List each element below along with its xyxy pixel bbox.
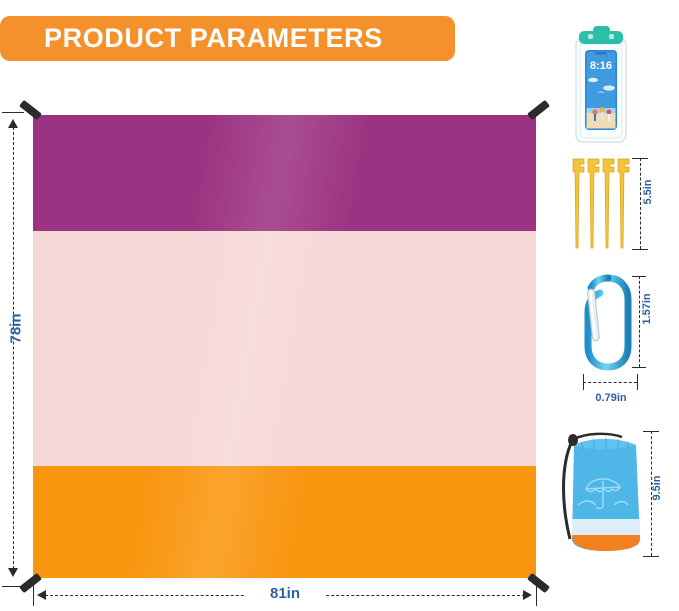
carabiner-height-line xyxy=(639,276,640,367)
waterproof-phone-pouch: 8:16 xyxy=(573,22,629,144)
stake-dim-cap-bottom xyxy=(632,249,648,250)
height-dim-cap-top xyxy=(2,112,24,113)
carry-bag xyxy=(556,427,654,562)
carabiner-width-label: 0.79in xyxy=(581,392,641,404)
carabiner-width-line xyxy=(583,382,637,383)
height-dim-cap-bottom xyxy=(2,586,24,587)
corner-loop-top-right xyxy=(527,100,550,120)
blanket-height-label: 78in xyxy=(8,299,25,359)
orange-stripe xyxy=(33,466,536,578)
width-dim-cap-right xyxy=(536,584,537,606)
blanket-width-label: 81in xyxy=(245,585,325,602)
corner-loop-top-left xyxy=(19,100,42,120)
height-arrow-up-icon xyxy=(8,119,18,128)
width-arrow-right-icon xyxy=(523,590,532,600)
stake-length-label: 5.5in xyxy=(642,175,654,209)
stake-dimension-line xyxy=(640,158,641,249)
tent-stakes xyxy=(570,155,632,250)
bag-height-label: 9.5in xyxy=(651,471,663,505)
page-title: PRODUCT PARAMETERS xyxy=(44,16,444,61)
infographic-canvas: PRODUCT PARAMETERS 78in 81in 8:16 xyxy=(0,0,679,611)
width-dim-cap-left xyxy=(33,584,34,606)
bag-dim-cap-bottom xyxy=(643,556,659,557)
carabiner-height-label: 1.57in xyxy=(641,292,653,326)
carabiner-width-cap-right xyxy=(637,374,638,390)
width-arrow-left-icon xyxy=(37,590,46,600)
carabiner xyxy=(580,272,636,372)
phone-time-text: 8:16 xyxy=(590,60,612,72)
beach-blanket xyxy=(33,115,536,578)
carabiner-height-cap-bottom xyxy=(632,367,646,368)
height-arrow-down-icon xyxy=(8,568,18,577)
purple-stripe xyxy=(33,115,536,231)
pink-stripe xyxy=(33,231,536,466)
